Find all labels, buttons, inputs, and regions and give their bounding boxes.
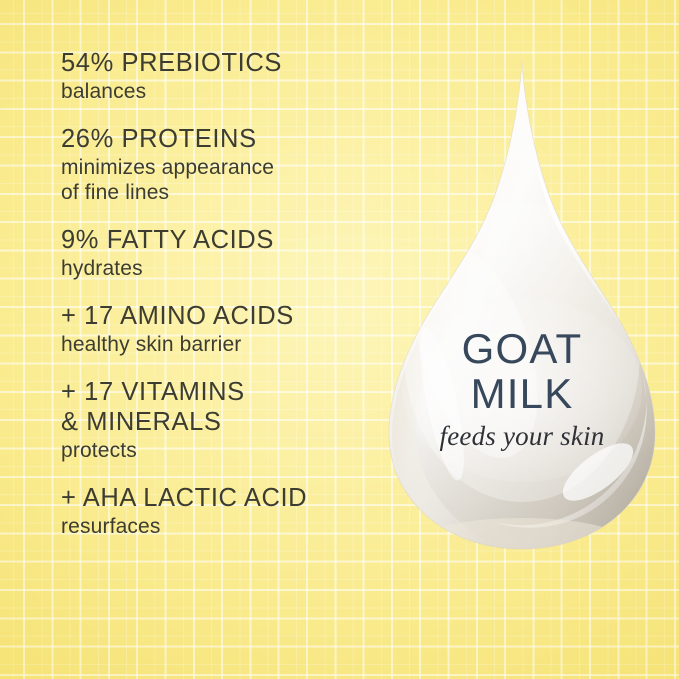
goat-milk-ingredient-poster: 54% PREBIOTICS balances 26% PROTEINS min…: [0, 0, 679, 679]
ingredient-benefit: healthy skin barrier: [61, 332, 391, 357]
ingredient-title: + AHA LACTIC ACID: [61, 483, 391, 513]
droplet-bottom-bounce: [426, 518, 618, 557]
ingredient-item-prebiotics: 54% PREBIOTICS balances: [61, 48, 391, 104]
ingredient-benefit: hydrates: [61, 256, 391, 281]
ingredient-item-aha-lactic-acid: + AHA LACTIC ACID resurfaces: [61, 483, 391, 539]
droplet-text-plate: [402, 298, 642, 482]
ingredient-item-vitamins-minerals: + 17 VITAMINS & MINERALS protects: [61, 377, 391, 463]
ingredient-benefit: minimizes appearance of fine lines: [61, 155, 391, 205]
ingredient-item-fatty-acids: 9% FATTY ACIDS hydrates: [61, 225, 391, 281]
ingredient-title: + 17 VITAMINS & MINERALS: [61, 377, 391, 437]
ingredient-title: 54% PREBIOTICS: [61, 48, 391, 78]
ingredient-item-amino-acids: + 17 AMINO ACIDS healthy skin barrier: [61, 301, 391, 357]
ingredient-list: 54% PREBIOTICS balances 26% PROTEINS min…: [61, 48, 391, 539]
ingredient-title: 9% FATTY ACIDS: [61, 225, 391, 255]
ingredient-benefit: balances: [61, 79, 391, 104]
ingredient-title: 26% PROTEINS: [61, 124, 391, 154]
ingredient-benefit: protects: [61, 438, 391, 463]
droplet-icon: [372, 52, 672, 557]
milk-droplet-graphic: GOAT MILK feeds your skin: [372, 52, 672, 557]
ingredient-title: + 17 AMINO ACIDS: [61, 301, 391, 331]
ingredient-item-proteins: 26% PROTEINS minimizes appearance of fin…: [61, 124, 391, 205]
ingredient-benefit: resurfaces: [61, 514, 391, 539]
